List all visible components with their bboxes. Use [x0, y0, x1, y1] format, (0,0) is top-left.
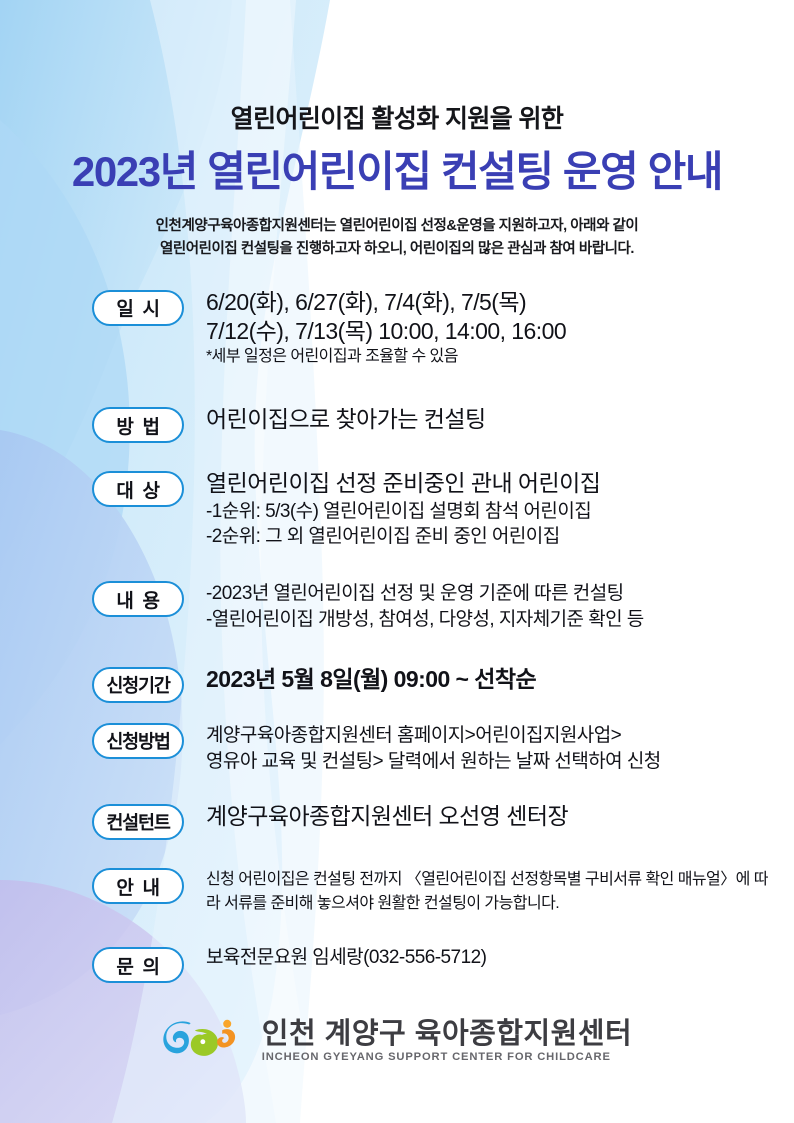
row-label-contents: 내용 [92, 581, 184, 617]
row-notice: 안내 신청 어린이집은 컨설팅 전까지 〈열린어린이집 선정항목별 구비서류 확… [92, 866, 774, 916]
row-label-consultant: 컨설턴트 [92, 804, 184, 840]
row-content-target: 열린어린이집 선정 준비중인 관내 어린이집 -1순위: 5/3(수) 열린어린… [184, 469, 774, 549]
header-subtitle-line-2: 열린어린이집 컨설팅을 진행하고자 하오니, 어린이집의 많은 관심과 참여 바… [0, 238, 794, 261]
header-eyebrow: 열린어린이집 활성화 지원을 위한 [0, 104, 794, 135]
notice-text: 신청 어린이집은 컨설팅 전까지 〈열린어린이집 선정항목별 구비서류 확인 매… [206, 868, 774, 916]
row-content-contents: -2023년 열린어린이집 선정 및 운영 기준에 따른 컨설팅 -열린어린이집… [184, 579, 774, 632]
sc-childcare-logo-icon [162, 1015, 248, 1067]
row-inquiry: 문의 보육전문요원 임세랑(032-556-5712) [92, 945, 774, 983]
footer-logo: 인천 계양구 육아종합지원센터 INCHEON GYEYANG SUPPORT … [0, 1015, 794, 1067]
header-subtitle: 인천계양구육아종합지원센터는 열린어린이집 선정&운영을 지원하고자, 아래와 … [0, 215, 794, 262]
datetime-line-2: 7/12(수), 7/13(목) 10:00, 14:00, 16:00 [206, 317, 774, 346]
row-target: 대상 열린어린이집 선정 준비중인 관내 어린이집 -1순위: 5/3(수) 열… [92, 469, 774, 549]
poster-header: 열린어린이집 활성화 지원을 위한 2023년 열린어린이집 컨설팅 운영 안내… [0, 0, 794, 262]
target-line-3: -2순위: 그 외 열린어린이집 준비 중인 어린이집 [206, 524, 774, 549]
row-content-application-period: 2023년 5월 8일(월) 09:00 ~ 선착순 [184, 665, 774, 694]
row-application-method: 신청방법 계양구육아종합지원센터 홈페이지>어린이집지원사업> 영유아 교육 및… [92, 721, 774, 774]
row-label-datetime: 일시 [92, 290, 184, 326]
contents-line-2: -열린어린이집 개방성, 참여성, 다양성, 지자체기준 확인 등 [206, 607, 774, 632]
row-content-datetime: 6/20(화), 6/27(화), 7/4(화), 7/5(목) 7/12(수)… [184, 288, 774, 370]
poster-page: 열린어린이집 활성화 지원을 위한 2023년 열린어린이집 컨설팅 운영 안내… [0, 0, 794, 1123]
application-method-line-2: 영유아 교육 및 컨설팅> 달력에서 원하는 날짜 선택하여 신청 [206, 749, 774, 774]
row-label-target: 대상 [92, 471, 184, 507]
application-method-line-1: 계양구육아종합지원센터 홈페이지>어린이집지원사업> [206, 723, 774, 748]
row-content-consultant: 계양구육아종합지원센터 오선영 센터장 [184, 802, 774, 831]
row-content-method: 어린이집으로 찾아가는 컨설팅 [184, 405, 774, 434]
logo-text-block: 인천 계양구 육아종합지원센터 INCHEON GYEYANG SUPPORT … [262, 1019, 632, 1063]
row-label-application-period: 신청기간 [92, 667, 184, 703]
row-label-notice: 안내 [92, 868, 184, 904]
method-line-1: 어린이집으로 찾아가는 컨설팅 [206, 405, 774, 434]
row-label-inquiry: 문의 [92, 947, 184, 983]
detail-rows: 일시 6/20(화), 6/27(화), 7/4(화), 7/5(목) 7/12… [0, 288, 794, 984]
row-content-inquiry: 보육전문요원 임세랑(032-556-5712) [184, 945, 774, 970]
row-datetime: 일시 6/20(화), 6/27(화), 7/4(화), 7/5(목) 7/12… [92, 288, 774, 370]
row-content-application-method: 계양구육아종합지원센터 홈페이지>어린이집지원사업> 영유아 교육 및 컨설팅>… [184, 721, 774, 774]
row-label-method: 방법 [92, 407, 184, 443]
logo-name-korean: 인천 계양구 육아종합지원센터 [262, 1019, 632, 1049]
datetime-line-1: 6/20(화), 6/27(화), 7/4(화), 7/5(목) [206, 288, 774, 317]
target-line-2: -1순위: 5/3(수) 열린어린이집 설명회 참석 어린이집 [206, 499, 774, 524]
inquiry-line-1: 보육전문요원 임세랑(032-556-5712) [206, 945, 774, 970]
application-period-line-1: 2023년 5월 8일(월) 09:00 ~ 선착순 [206, 665, 774, 694]
row-application-period: 신청기간 2023년 5월 8일(월) 09:00 ~ 선착순 [92, 665, 774, 703]
row-label-application-method: 신청방법 [92, 723, 184, 759]
contents-line-1: -2023년 열린어린이집 선정 및 운영 기준에 따른 컨설팅 [206, 581, 774, 606]
row-method: 방법 어린이집으로 찾아가는 컨설팅 [92, 405, 774, 443]
row-content-notice: 신청 어린이집은 컨설팅 전까지 〈열린어린이집 선정항목별 구비서류 확인 매… [184, 866, 774, 916]
datetime-note: *세부 일정은 어린이집과 조율할 수 있음 [206, 346, 774, 369]
logo-name-english: INCHEON GYEYANG SUPPORT CENTER FOR CHILD… [262, 1051, 632, 1063]
target-line-1: 열린어린이집 선정 준비중인 관내 어린이집 [206, 469, 774, 498]
row-contents: 내용 -2023년 열린어린이집 선정 및 운영 기준에 따른 컨설팅 -열린어… [92, 579, 774, 632]
page-title: 2023년 열린어린이집 컨설팅 운영 안내 [0, 148, 794, 196]
row-consultant: 컨설턴트 계양구육아종합지원센터 오선영 센터장 [92, 802, 774, 840]
header-subtitle-line-1: 인천계양구육아종합지원센터는 열린어린이집 선정&운영을 지원하고자, 아래와 … [0, 215, 794, 238]
consultant-line-1: 계양구육아종합지원센터 오선영 센터장 [206, 802, 774, 831]
